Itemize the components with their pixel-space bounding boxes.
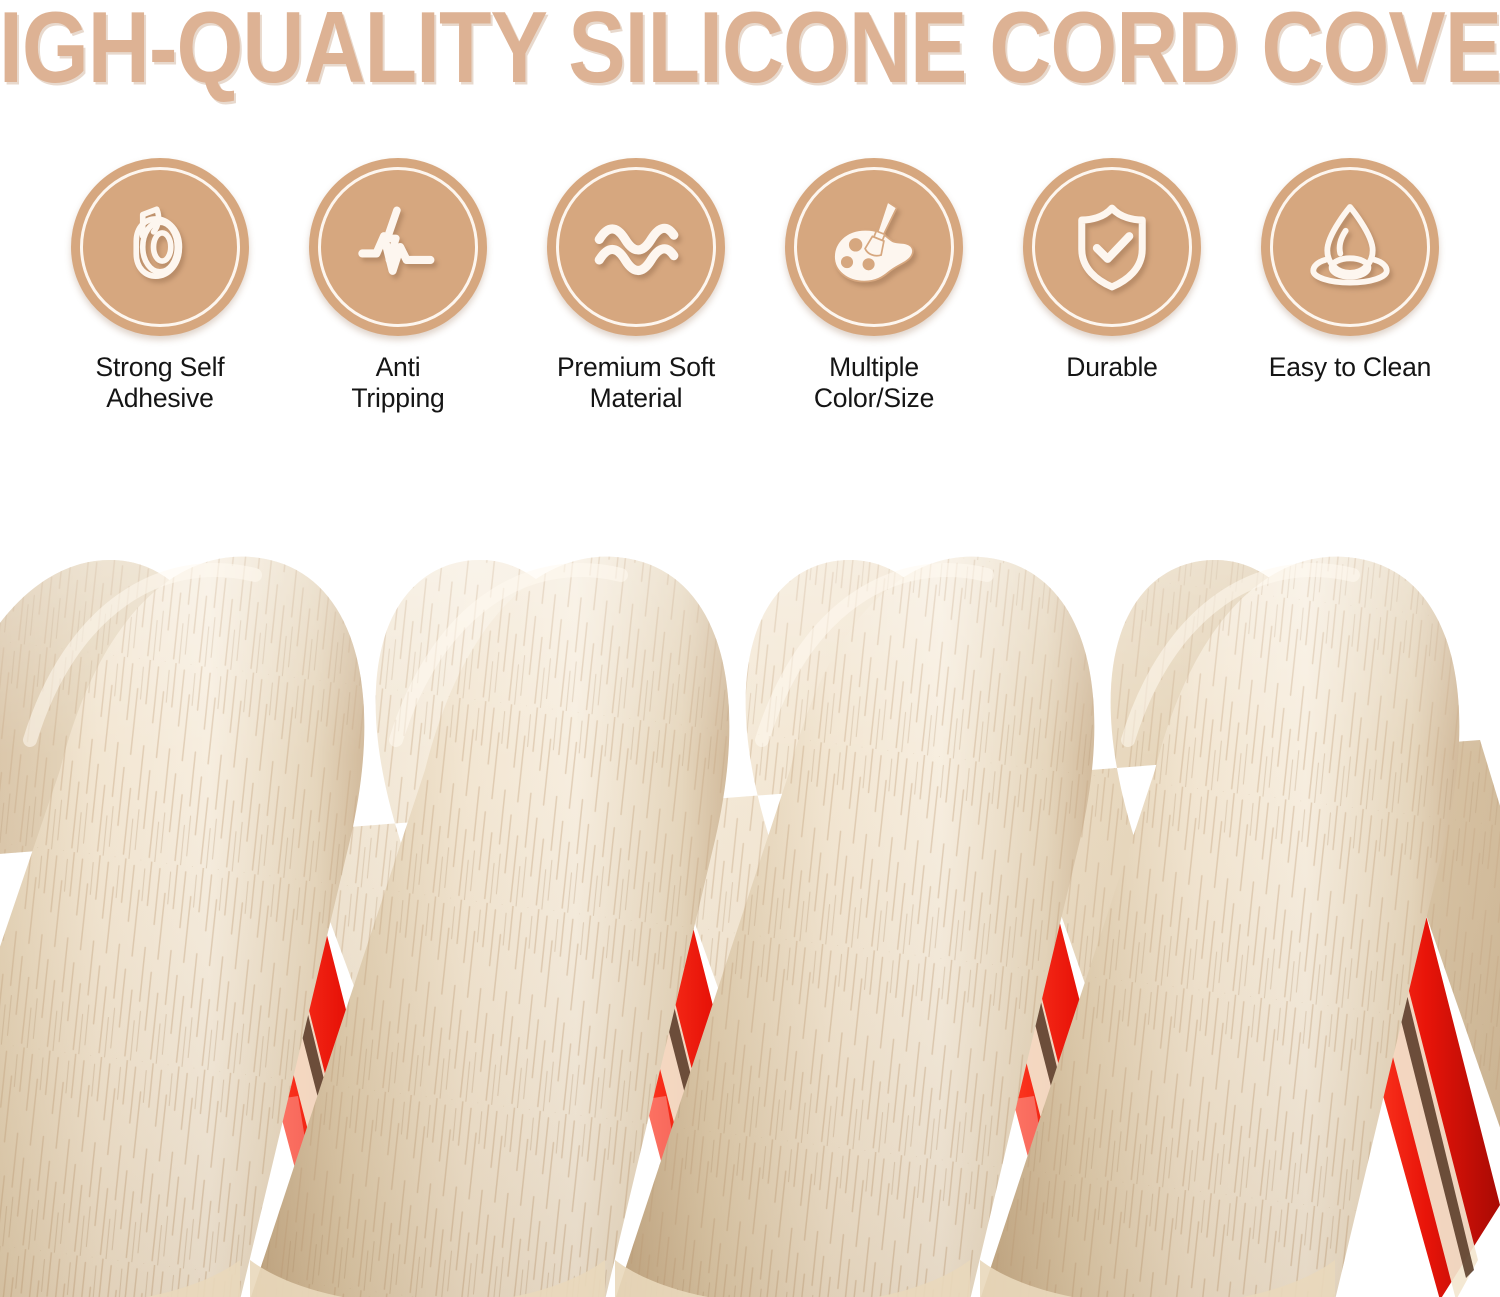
feature-anti-tripping: Anti Tripping <box>298 158 498 415</box>
feature-icon-badge <box>1023 158 1201 336</box>
feature-premium-soft-material: Premium Soft Material <box>536 158 736 415</box>
feature-label: Multiple Color/Size <box>814 352 934 415</box>
feature-label: Anti Tripping <box>351 352 444 415</box>
silicone-cord-cover-coil <box>0 440 1500 1297</box>
product-photo <box>0 440 1500 1297</box>
water-drop-ripple-icon <box>1296 193 1404 301</box>
feature-durable: Durable <box>1012 158 1212 383</box>
feature-icon-badge <box>71 158 249 336</box>
paint-palette-icon <box>820 193 928 301</box>
shield-check-icon <box>1058 193 1166 301</box>
feature-label: Premium Soft Material <box>557 352 715 415</box>
feature-multiple-color-size: Multiple Color/Size <box>774 158 974 415</box>
adhesive-tape-roll-icon <box>106 193 214 301</box>
pulse-lightning-icon <box>344 193 452 301</box>
feature-icon-badge <box>547 158 725 336</box>
feature-icon-badge <box>309 158 487 336</box>
title-banner: HIGH-QUALITY SILICONE CORD COVER <box>0 0 1500 95</box>
feature-label: Durable <box>1066 352 1157 383</box>
feature-easy-to-clean: Easy to Clean <box>1250 158 1450 383</box>
feature-label: Easy to Clean <box>1269 352 1431 383</box>
product-infographic-page: HIGH-QUALITY SILICONE CORD COVER Strong … <box>0 0 1500 1297</box>
page-title: HIGH-QUALITY SILICONE CORD COVER <box>0 0 1500 98</box>
feature-strip: Strong Self Adhesive Anti Tripping <box>60 158 1450 428</box>
feature-label: Strong Self Adhesive <box>96 352 225 415</box>
feature-strong-self-adhesive: Strong Self Adhesive <box>60 158 260 415</box>
wavy-lines-icon <box>582 193 690 301</box>
feature-icon-badge <box>1261 158 1439 336</box>
feature-icon-badge <box>785 158 963 336</box>
